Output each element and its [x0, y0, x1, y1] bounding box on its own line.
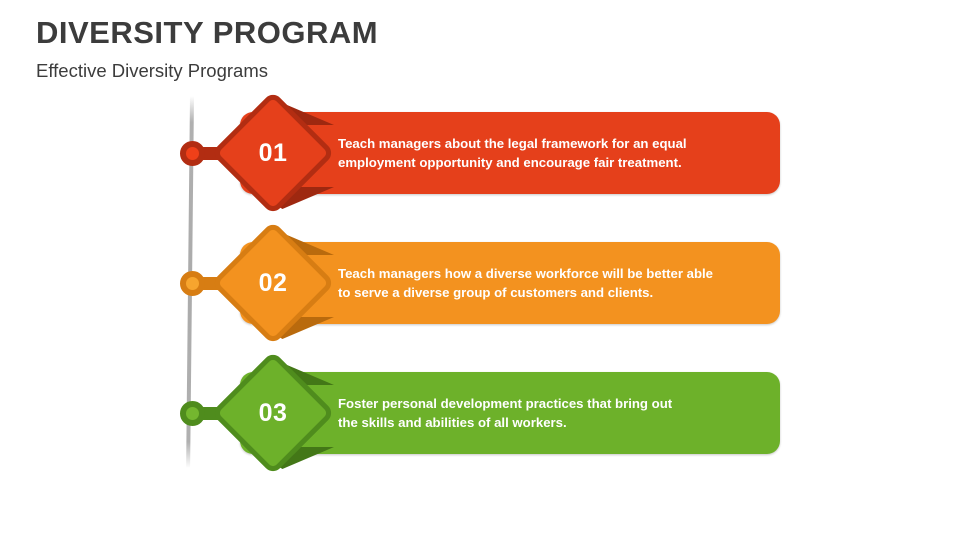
slide-canvas: DIVERSITY PROGRAM Effective Diversity Pr… [0, 0, 960, 540]
timeline-dot-icon[interactable] [180, 271, 205, 296]
step-number: 03 [229, 369, 317, 457]
slide-header: DIVERSITY PROGRAM Effective Diversity Pr… [36, 16, 736, 82]
step-description-line-2: to serve a diverse group of customers an… [338, 283, 738, 302]
step-description: Teach managers how a diverse workforce w… [338, 233, 738, 333]
timeline-dot-icon[interactable] [180, 141, 205, 166]
timeline-dot-icon[interactable] [180, 401, 205, 426]
step-description-line-2: the skills and abilities of all workers. [338, 413, 738, 432]
timeline-item-1[interactable]: 01 Teach managers about the legal framew… [0, 103, 960, 213]
step-description: Foster personal development practices th… [338, 363, 738, 463]
step-description: Teach managers about the legal framework… [338, 103, 738, 203]
page-subtitle: Effective Diversity Programs [36, 60, 736, 82]
step-description-line-1: Teach managers about the legal framework… [338, 134, 738, 153]
timeline-item-2[interactable]: 02 Teach managers how a diverse workforc… [0, 233, 960, 343]
step-description-line-1: Teach managers how a diverse workforce w… [338, 264, 738, 283]
step-number: 01 [229, 109, 317, 197]
step-number: 02 [229, 239, 317, 327]
page-title: DIVERSITY PROGRAM [36, 16, 736, 50]
timeline-item-3[interactable]: 03 Foster personal development practices… [0, 363, 960, 473]
step-description-line-1: Foster personal development practices th… [338, 394, 738, 413]
step-description-line-2: employment opportunity and encourage fai… [338, 153, 738, 172]
